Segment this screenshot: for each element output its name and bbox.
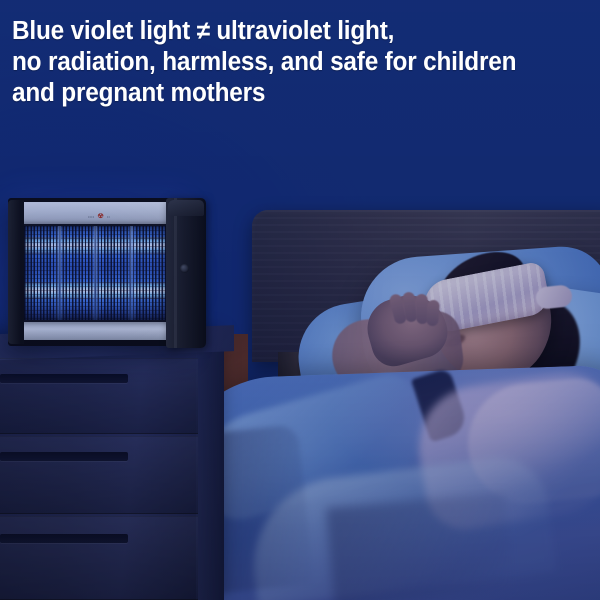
duvet-fold <box>326 492 514 600</box>
radiation-warning-icon: ☢ <box>97 213 103 219</box>
grid-support-bar <box>130 226 133 320</box>
zapper-left-end-cap <box>8 200 24 344</box>
grid-support-bar <box>94 226 97 320</box>
bug-zapper-device: •••• ☢ •• <box>8 198 204 346</box>
zapper-right-cap-top <box>168 200 204 216</box>
drawer-handle <box>0 374 128 383</box>
headline-line-1: Blue violet light ≠ ultraviolet light, <box>12 16 566 47</box>
nightstand-drawer <box>0 436 198 514</box>
zapper-bottom-panel <box>12 322 180 340</box>
drawer-handle <box>0 452 128 461</box>
nightstand-drawer <box>0 358 198 434</box>
headline-line-3: and pregnant mothers <box>12 78 566 109</box>
zapper-right-end-cap <box>166 198 206 348</box>
nightstand-side-panel <box>196 348 224 600</box>
zapper-screw-icon <box>180 264 189 273</box>
zapper-top-panel: •••• ☢ •• <box>12 202 180 224</box>
marking-right-text: •• <box>107 215 110 219</box>
headline-line-2: no radiation, harmless, and safe for chi… <box>12 47 566 78</box>
grid-support-bar <box>58 226 61 320</box>
drawer-handle <box>0 534 128 543</box>
nightstand-drawer <box>0 516 198 600</box>
zapper-light-window <box>24 226 168 320</box>
headline-block: Blue violet light ≠ ultraviolet light, n… <box>0 0 600 140</box>
marking-left-text: •••• <box>88 215 94 219</box>
zapper-label-markings: •••• ☢ •• <box>68 212 130 220</box>
finger <box>426 300 440 327</box>
image-canvas: •••• ☢ •• Blue violet light ≠ ultraviole… <box>0 0 600 600</box>
